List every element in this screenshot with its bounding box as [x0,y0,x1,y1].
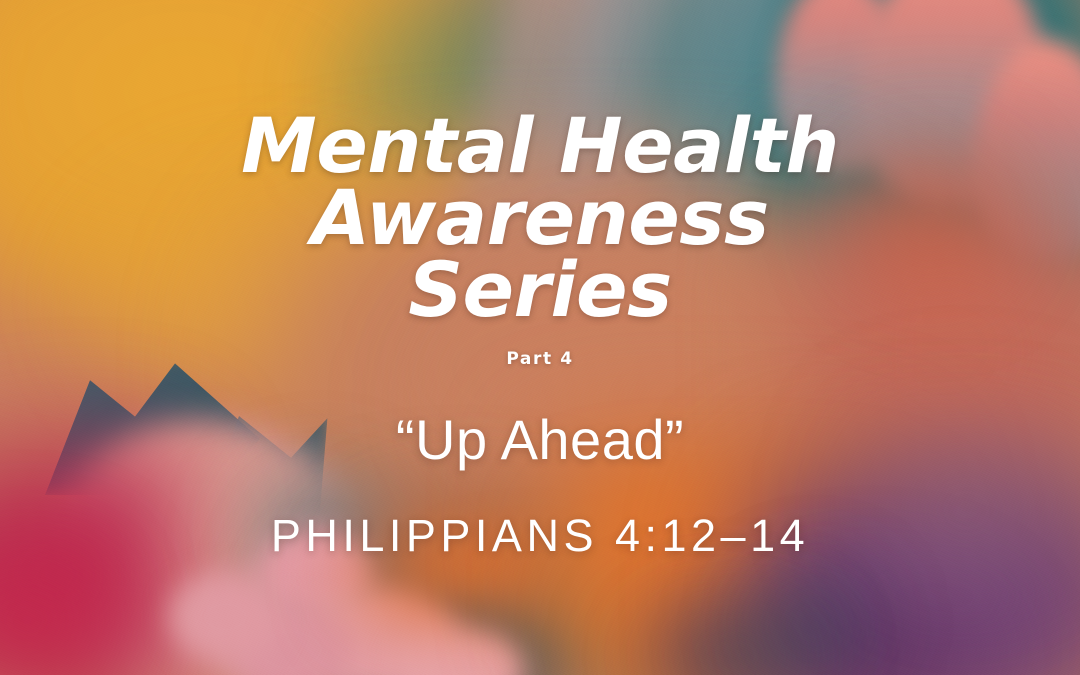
sermon-title-slide: Mental Health Awareness Series Part 4 “U… [0,0,1080,675]
scripture-reference: PHILIPPIANS 4:12–14 [271,510,809,562]
part-label: Part 4 [506,349,573,369]
series-title-line-2: Series [12,254,1068,326]
slide-content: Mental Health Awareness Series Part 4 “U… [0,0,1080,675]
message-title: “Up Ahead” [396,407,684,472]
series-title-line-1: Mental Health Awareness [241,101,839,262]
series-title: Mental Health Awareness Series [12,110,1068,327]
